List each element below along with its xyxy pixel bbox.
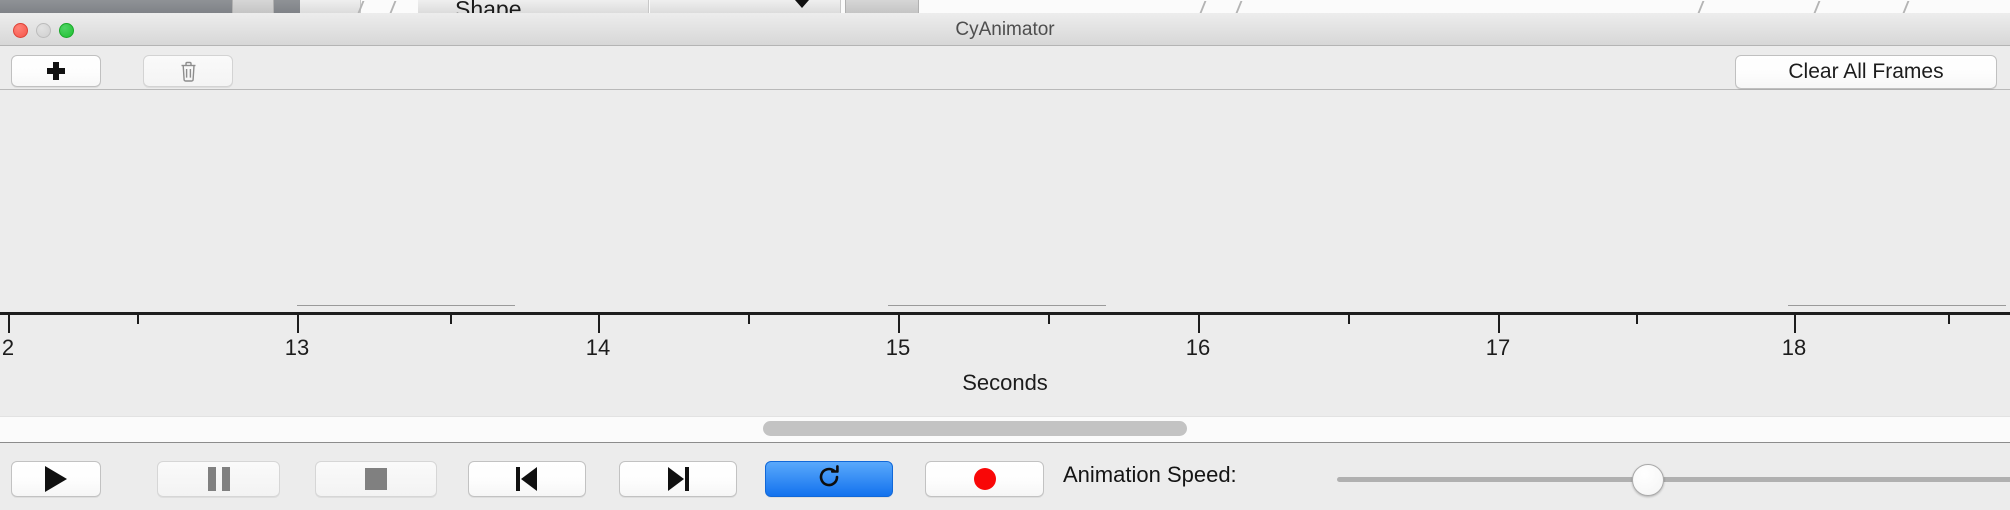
axis-tick-minor (137, 315, 139, 324)
background-slash-icon (1903, 1, 1910, 13)
axis-tick-minor (1636, 315, 1638, 324)
background-window-label: Shape (455, 0, 522, 13)
play-button[interactable] (11, 461, 101, 497)
axis-tick-label: 2 (2, 335, 14, 361)
pause-icon (208, 467, 230, 491)
axis-tick-minor (1348, 315, 1350, 324)
axis-line (0, 312, 2010, 315)
axis-tick-major (297, 315, 299, 333)
axis-tick-minor (748, 315, 750, 324)
axis-tick-major (1198, 315, 1200, 333)
axis-tick-major (598, 315, 600, 333)
stop-icon (365, 468, 387, 490)
axis-tick-major (898, 315, 900, 333)
axis-tick-minor (1048, 315, 1050, 324)
page-title: CyAnimator (0, 13, 2010, 46)
loop-icon (816, 464, 842, 495)
background-dropdown-arrow-icon (795, 0, 809, 8)
clear-all-frames-button[interactable]: Clear All Frames (1735, 55, 1997, 89)
timeline-axis: 2 13 14 15 16 17 18 Seconds (0, 306, 2010, 404)
background-slash-icon (1200, 1, 1207, 13)
delete-frame-button[interactable] (143, 55, 233, 87)
previous-frame-button[interactable] (468, 461, 586, 497)
background-toolbar-segment (650, 0, 841, 13)
skip-forward-icon (667, 467, 689, 491)
background-toolbar-segment (300, 0, 361, 13)
stop-button[interactable] (315, 461, 437, 497)
background-slash-icon (1698, 1, 1705, 13)
add-frame-button[interactable] (11, 55, 101, 87)
plus-icon (47, 62, 65, 80)
trash-icon (180, 61, 197, 82)
animation-speed-label: Animation Speed: (1063, 462, 1237, 488)
record-icon (974, 468, 996, 490)
animation-speed-slider[interactable] (1337, 477, 2010, 482)
axis-tick-label: 14 (586, 335, 610, 361)
titlebar[interactable]: CyAnimator (0, 13, 2010, 46)
pause-button[interactable] (157, 461, 280, 497)
axis-tick-label: 15 (886, 335, 910, 361)
skip-back-icon (516, 467, 538, 491)
record-button[interactable] (925, 461, 1044, 497)
background-toolbar-highlight (845, 0, 919, 13)
loop-button[interactable] (765, 461, 893, 497)
background-toolbar-highlight (232, 0, 274, 13)
axis-tick-minor (450, 315, 452, 324)
axis-tick-major (1498, 315, 1500, 333)
cyanimator-window: Shape CyAnimator Clear All F (0, 0, 2010, 510)
background-window-strip: Shape (0, 0, 2010, 13)
background-slash-icon (1236, 1, 1243, 13)
timeline-track[interactable]: MCM1 (0, 90, 2010, 315)
play-icon (45, 466, 67, 492)
background-toolbar-segment (418, 0, 649, 13)
animation-speed-slider-thumb[interactable] (1632, 464, 1664, 496)
scrollbar-thumb[interactable] (763, 421, 1187, 436)
axis-tick-label: 13 (285, 335, 309, 361)
axis-tick-label: 18 (1782, 335, 1806, 361)
background-slash-icon (390, 1, 397, 13)
axis-title: Seconds (0, 370, 2010, 396)
background-slash-icon (1814, 1, 1821, 13)
axis-tick-label: 17 (1486, 335, 1510, 361)
axis-tick-label: 16 (1186, 335, 1210, 361)
toolbar (0, 46, 2010, 90)
axis-tick-minor (1948, 315, 1950, 324)
axis-tick-major (8, 315, 10, 333)
axis-tick-major (1794, 315, 1796, 333)
next-frame-button[interactable] (619, 461, 737, 497)
